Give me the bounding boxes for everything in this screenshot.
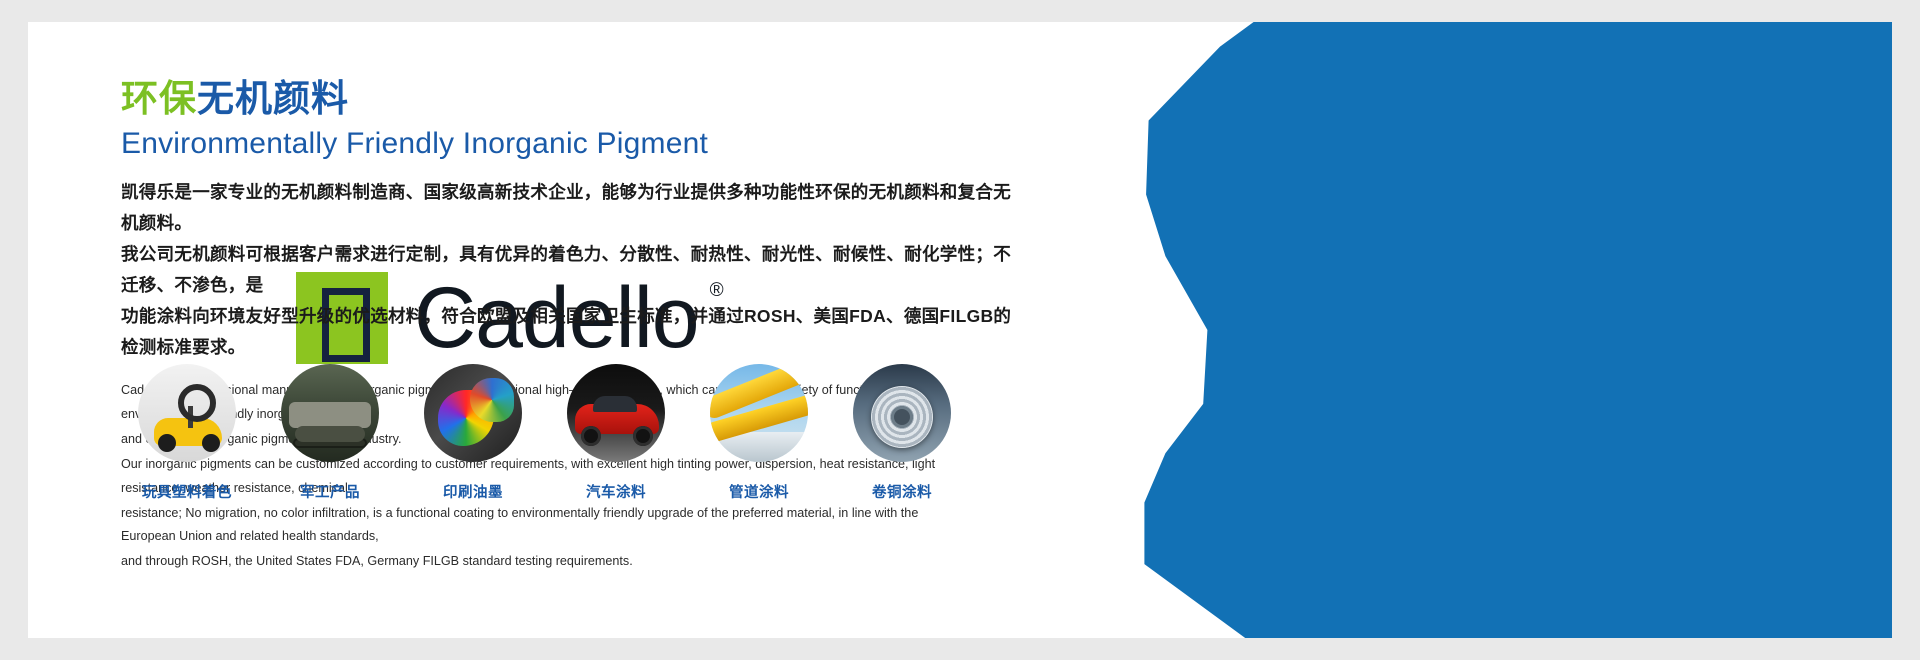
- printing-ink-image: [424, 364, 522, 462]
- page-title-en: Environmentally Friendly Inorganic Pigme…: [121, 127, 1021, 161]
- cn-line: 凯得乐是一家专业的无机颜料制造商、国家级高新技术企业，能够为行业提供多种功能性环…: [121, 177, 1021, 239]
- brand-panel: [1052, 22, 1892, 638]
- product-caption: 汽车涂料: [586, 481, 646, 502]
- cn-line: 我公司无机颜料可根据客户需求进行定制，具有优异的着色力、分散性、耐热性、耐光性、…: [121, 239, 1021, 301]
- product-caption: 印刷油墨: [443, 481, 503, 502]
- cn-line: 功能涂料向环境友好型升级的优选材料，符合欧盟及相关国家卫生标准，并通过ROSH、…: [121, 301, 1021, 363]
- en-line: and through ROSH, the United States FDA,…: [121, 550, 966, 573]
- military-vehicle-image: [281, 364, 379, 462]
- product-caption: 管道涂料: [729, 481, 789, 502]
- chinese-description: 凯得乐是一家专业的无机颜料制造商、国家级高新技术企业，能够为行业提供多种功能性环…: [121, 177, 1021, 364]
- product-item[interactable]: 管道涂料: [710, 364, 808, 502]
- product-item[interactable]: 汽车涂料: [567, 364, 665, 502]
- product-item[interactable]: 军工产品: [281, 364, 379, 502]
- page-title-cn: 环保无机颜料: [121, 78, 1021, 121]
- product-item[interactable]: 玩具塑料着色: [138, 364, 236, 502]
- product-caption: 玩具塑料着色: [142, 481, 232, 502]
- product-caption: 军工产品: [300, 481, 360, 502]
- steel-coil-image: [853, 364, 951, 462]
- blue-angled-shape: [1052, 22, 1892, 638]
- sports-car-image: [567, 364, 665, 462]
- product-caption: 卷铜涂料: [872, 481, 932, 502]
- en-line: resistance; No migration, no color infil…: [121, 502, 966, 549]
- title-cn-blue: 无机颜料: [197, 78, 349, 119]
- brochure-page: Cadello ® 环保无机颜料 Environmentally Friendl…: [28, 22, 1892, 638]
- product-item[interactable]: 卷铜涂料: [853, 364, 951, 502]
- toy-car-image: [138, 364, 236, 462]
- product-item[interactable]: 印刷油墨: [424, 364, 522, 502]
- pipeline-image: [710, 364, 808, 462]
- product-applications-list: 玩具塑料着色 军工产品 印刷油墨 汽车涂料 管道涂料: [138, 364, 951, 502]
- title-cn-green: 环保: [121, 78, 197, 119]
